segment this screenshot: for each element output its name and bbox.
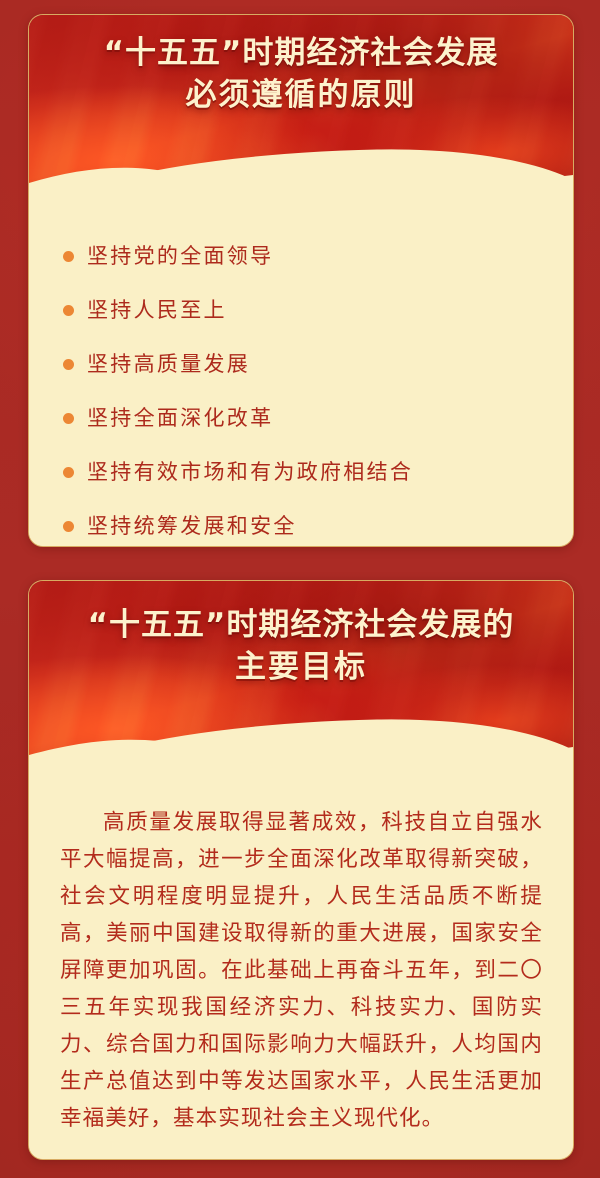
title-line-2: 必须遵循的原则: [55, 75, 547, 117]
card-goals: “十五五”时期经济社会发展的 主要目标 高质量发展取得显著成效，科技自立自强水平…: [28, 580, 574, 1160]
title-line-1: “十五五”时期经济社会发展: [55, 33, 547, 75]
flag-banner-goals: “十五五”时期经济社会发展的 主要目标: [29, 581, 573, 781]
list-item-label: 坚持有效市场和有为政府相结合: [87, 462, 413, 483]
title-line-2: 主要目标: [55, 647, 547, 689]
bullet-dot-icon: [63, 521, 74, 532]
list-item: 坚持党的全面领导: [29, 229, 573, 283]
list-item: 坚持人民至上: [29, 283, 573, 337]
bullet-dot-icon: [63, 305, 74, 316]
card-goals-title: “十五五”时期经济社会发展的 主要目标: [29, 605, 573, 688]
list-item: 坚持有效市场和有为政府相结合: [29, 445, 573, 499]
bullet-dot-icon: [63, 251, 74, 262]
list-item: 坚持高质量发展: [29, 337, 573, 391]
list-item-label: 坚持人民至上: [87, 300, 227, 321]
list-item: 坚持全面深化改革: [29, 391, 573, 445]
bullet-dot-icon: [63, 467, 74, 478]
goals-paragraph: 高质量发展取得显著成效，科技自立自强水平大幅提高，进一步全面深化改革取得新突破，…: [29, 781, 573, 1160]
list-item-label: 坚持统筹发展和安全: [87, 516, 297, 537]
list-item-label: 坚持全面深化改革: [87, 408, 273, 429]
principles-body: 坚持党的全面领导 坚持人民至上 坚持高质量发展 坚持全面深化改革 坚持有效市场和…: [29, 211, 573, 547]
card-principles-title: “十五五”时期经济社会发展 必须遵循的原则: [29, 33, 573, 116]
goals-body: 高质量发展取得显著成效，科技自立自强水平大幅提高，进一步全面深化改革取得新突破，…: [29, 781, 573, 1160]
title-line-1: “十五五”时期经济社会发展的: [55, 605, 547, 647]
principles-list: 坚持党的全面领导 坚持人民至上 坚持高质量发展 坚持全面深化改革 坚持有效市场和…: [29, 211, 573, 547]
list-item: 坚持统筹发展和安全: [29, 499, 573, 547]
list-item-label: 坚持党的全面领导: [87, 246, 273, 267]
bullet-dot-icon: [63, 413, 74, 424]
flag-banner-principles: “十五五”时期经济社会发展 必须遵循的原则: [29, 15, 573, 211]
card-principles: “十五五”时期经济社会发展 必须遵循的原则 坚持党的全面领导 坚持人民至上 坚持…: [28, 14, 574, 547]
bullet-dot-icon: [63, 359, 74, 370]
list-item-label: 坚持高质量发展: [87, 354, 250, 375]
